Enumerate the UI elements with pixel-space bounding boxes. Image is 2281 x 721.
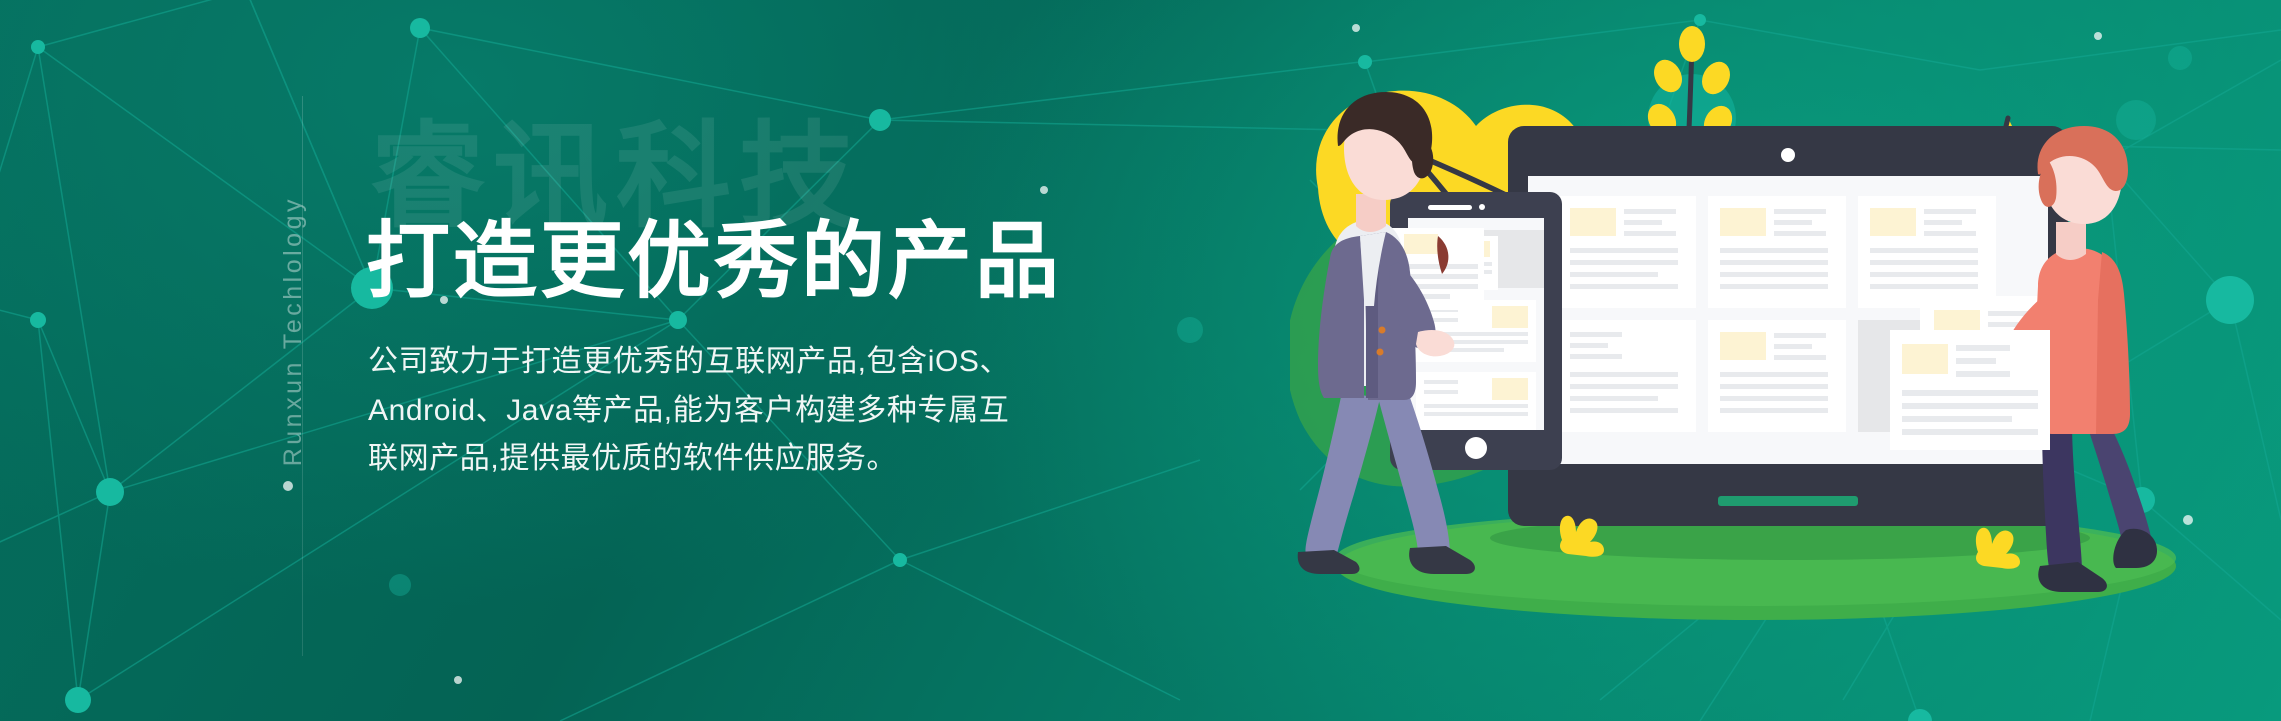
vertical-brand-text: Runxun Techlology	[279, 196, 308, 466]
page-title: 打造更优秀的产品	[366, 212, 1062, 311]
tablet-camera-dot	[1479, 204, 1485, 210]
content-card	[1708, 320, 1846, 432]
subcopy-line-3: 联网产品,提供最优质的软件供应服务。	[368, 435, 1168, 484]
content-card	[1858, 196, 1996, 308]
people-with-devices-illustration	[1290, 0, 2281, 721]
subcopy-line-2: Android、Java等产品,能为客户构建多种专属互	[368, 387, 1168, 436]
held-document-card	[1890, 330, 2050, 450]
tablet-card	[1416, 372, 1536, 430]
monitor-camera-dot	[1781, 148, 1795, 162]
content-card	[1708, 196, 1846, 308]
content-card	[1558, 320, 1696, 432]
subcopy-line-1: 公司致力于打造更优秀的互联网产品,包含iOS、	[368, 338, 1168, 387]
tablet-speaker	[1428, 205, 1472, 210]
tablet-home-button	[1465, 437, 1487, 459]
monitor-base-notch	[1718, 496, 1858, 506]
subcopy-paragraph: 公司致力于打造更优秀的互联网产品,包含iOS、 Android、Java等产品,…	[368, 338, 1168, 484]
hero-banner: Runxun Techlology 睿讯科技 打造更优秀的产品 公司致力于打造更…	[0, 0, 2281, 721]
content-card	[1558, 196, 1696, 308]
